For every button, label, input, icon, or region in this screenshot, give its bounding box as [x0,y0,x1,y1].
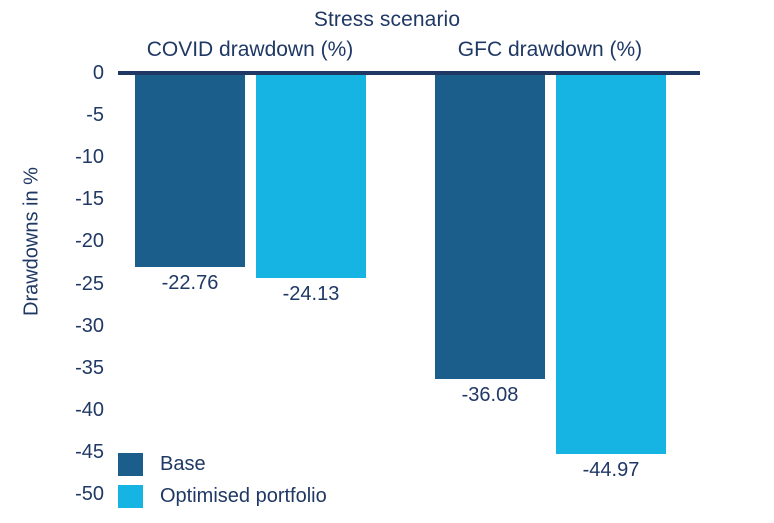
bar-value-label: -22.76 [130,272,250,295]
legend-item-label: Base [160,453,206,476]
legend-color-swatch [118,485,143,508]
y-axis-tick-label: -25 [38,274,104,294]
y-axis-tick-label: -5 [38,105,104,125]
bar[interactable] [556,75,666,454]
y-axis-tick-label: -20 [38,231,104,251]
y-axis-tick-label: 0 [38,63,104,83]
y-axis-tick-label: -30 [38,316,104,336]
bar-chart: Stress scenario COVID drawdown (%) GFC d… [0,0,774,523]
legend-color-swatch [118,453,143,476]
y-axis-tick-label: -10 [38,147,104,167]
y-axis-tick-label: -50 [38,484,104,504]
bar[interactable] [135,75,245,267]
legend-item[interactable]: Base [118,448,327,480]
plot-area: -22.76-24.13-36.08-44.97 [118,0,718,523]
y-axis-tick-label: -45 [38,442,104,462]
legend-item[interactable]: Optimised portfolio [118,480,327,512]
y-axis-tick-label: -35 [38,358,104,378]
y-axis-tick-label: -40 [38,400,104,420]
bar-value-label: -44.97 [551,459,671,482]
y-axis-tick-label: -15 [38,189,104,209]
bar-value-label: -24.13 [251,283,371,306]
legend-item-label: Optimised portfolio [160,485,327,508]
bar[interactable] [256,75,366,278]
y-axis-ticks: 0-5-10-15-20-25-30-35-40-45-50 [38,0,104,523]
bar-value-label: -36.08 [430,384,550,407]
chart-legend: BaseOptimised portfolio [118,448,327,512]
bar[interactable] [435,75,545,379]
